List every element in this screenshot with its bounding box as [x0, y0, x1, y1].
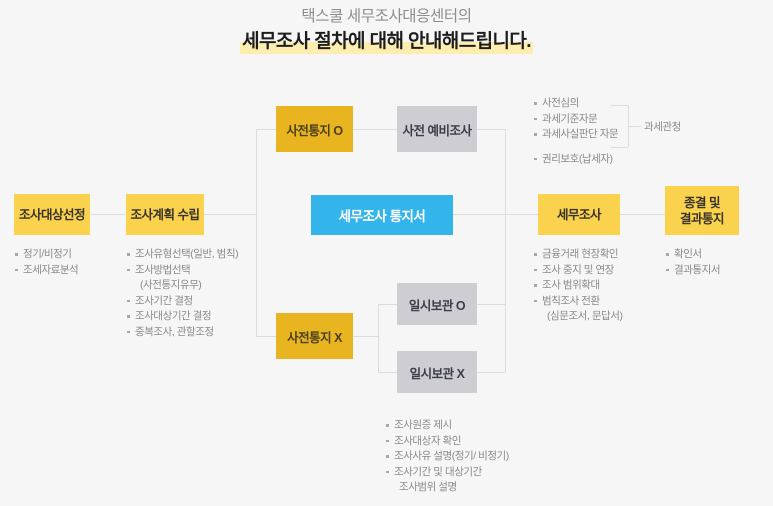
page-title: 세무조사 절차에 대해 안내해드립니다.	[240, 31, 533, 54]
list-item-continuation: (사전통지유무)	[126, 278, 238, 294]
connector-to-custody-no	[378, 372, 397, 373]
bullets-preliminary-survey-list: 사전심의 과세기준자문 과세사실판단 자문 권리보호(납세자)	[533, 96, 618, 167]
node-prior-notice-no-label: 사전통지 X	[287, 327, 342, 346]
bullets-target-selection: 정기/비정기 조세자료분석	[14, 247, 78, 278]
list-item: 조사 범위확대	[533, 278, 623, 294]
node-target-selection[interactable]: 조사대상선정	[14, 194, 90, 235]
list-item: 확인서	[665, 247, 720, 263]
node-tax-notice[interactable]: 세무조사 통지서	[311, 195, 453, 235]
list-item: 과세사실판단 자문	[533, 127, 618, 143]
node-temp-custody-yes[interactable]: 일시보관 O	[397, 283, 477, 325]
connector-investigation-to-conclusion	[620, 214, 665, 215]
list-item: 조사기간 결정	[126, 294, 238, 310]
bullets-conclusion-list: 확인서 결과통지서	[665, 247, 720, 278]
connector-custody-no-to-merge	[477, 372, 505, 373]
bracket-stem-tax-authority	[628, 126, 641, 127]
connector-selection-to-plan	[90, 214, 126, 215]
bullets-temp-custody: 조사원증 제시 조사대상자 확인 조사사유 설명(정기/ 비정기) 조사기간 및…	[385, 418, 509, 496]
list-item: 조사방법선택	[126, 263, 238, 279]
list-item: 조사기간 및 대상기간	[385, 465, 509, 481]
list-item-continuation: 조사범위 설명	[385, 480, 509, 496]
node-temp-custody-yes-label: 일시보관 O	[409, 295, 465, 314]
bullets-plan-establishment-list: 조사유형선택(일반, 범칙) 조사방법선택 (사전통지유무) 조사기간 결정 조…	[126, 247, 238, 340]
node-target-selection-label: 조사대상선정	[19, 207, 85, 223]
list-item: 조사사유 설명(정기/ 비정기)	[385, 449, 509, 465]
node-plan-establishment[interactable]: 조사계획 수립	[126, 194, 204, 235]
connector-custody-split-vertical	[378, 304, 379, 372]
page-title-block: 택스쿨 세무조사대응센터의 세무조사 절차에 대해 안내해드립니다.	[0, 6, 773, 54]
list-item: 결과통지서	[665, 263, 720, 279]
list-spacer	[533, 143, 618, 152]
node-conclusion[interactable]: 종결 및 결과통지	[665, 186, 739, 235]
connector-merge-to-investigation	[505, 214, 538, 215]
list-item: 금융거래 현장확인	[533, 247, 623, 263]
bullets-target-selection-list: 정기/비정기 조세자료분석	[14, 247, 78, 278]
bullets-preliminary-survey: 사전심의 과세기준자문 과세사실판단 자문 권리보호(납세자)	[533, 96, 618, 167]
flowchart-canvas: 택스쿨 세무조사대응센터의 세무조사 절차에 대해 안내해드립니다. 과세관청 …	[0, 0, 773, 506]
bullets-conclusion: 확인서 결과통지서	[665, 247, 720, 278]
node-prior-notice-yes-label: 사전통지 O	[286, 120, 342, 139]
node-preliminary-survey-label: 사전 예비조사	[403, 120, 472, 139]
node-prior-notice-yes[interactable]: 사전통지 O	[276, 106, 353, 152]
list-item: 조세자료분석	[14, 263, 78, 279]
node-temp-custody-no-label: 일시보관 X	[410, 363, 465, 382]
connector-to-prior-notice-yes	[256, 129, 276, 130]
connector-preliminary-to-merge	[477, 129, 505, 130]
list-item: 범칙조사 전환	[533, 294, 623, 310]
node-plan-establishment-label: 조사계획 수립	[131, 207, 200, 223]
connector-custody-yes-to-merge	[477, 304, 505, 305]
connector-notice-no-stem	[353, 336, 378, 337]
list-item-continuation: (심문조서, 문답서)	[533, 309, 623, 325]
connector-notice-split-vertical	[256, 129, 257, 336]
node-prior-notice-no[interactable]: 사전통지 X	[276, 313, 353, 359]
connector-tax-notice-to-merge	[453, 214, 505, 215]
page-subtitle: 택스쿨 세무조사대응센터의	[0, 6, 773, 28]
bullets-tax-investigation-list: 금융거래 현장확인 조사 중지 및 연장 조사 범위확대 범칙조사 전환 (심문…	[533, 247, 623, 325]
list-item: 조사대상기간 결정	[126, 309, 238, 325]
connector-to-prior-notice-no	[256, 336, 276, 337]
list-item: 조사원증 제시	[385, 418, 509, 434]
bracket-label-tax-authority: 과세관청	[644, 119, 681, 134]
node-tax-notice-label: 세무조사 통지서	[339, 205, 426, 225]
connector-merge-vertical	[505, 129, 506, 372]
list-item: 정기/비정기	[14, 247, 78, 263]
list-item: 권리보호(납세자)	[533, 152, 618, 168]
bullets-plan-establishment: 조사유형선택(일반, 범칙) 조사방법선택 (사전통지유무) 조사기간 결정 조…	[126, 247, 238, 340]
node-conclusion-label-line1: 종결 및	[684, 195, 720, 211]
list-item: 사전심의	[533, 96, 618, 112]
list-item: 조사유형선택(일반, 범칙)	[126, 247, 238, 263]
bullets-temp-custody-list: 조사원증 제시 조사대상자 확인 조사사유 설명(정기/ 비정기) 조사기간 및…	[385, 418, 509, 496]
list-item: 과세기준자문	[533, 112, 618, 128]
list-item: 중복조사, 관할조정	[126, 325, 238, 341]
node-tax-investigation-label: 세무조사	[557, 207, 601, 223]
connector-plan-stem	[204, 214, 256, 215]
list-item: 조사대상자 확인	[385, 434, 509, 450]
bullets-tax-investigation: 금융거래 현장확인 조사 중지 및 연장 조사 범위확대 범칙조사 전환 (심문…	[533, 247, 623, 325]
list-item: 조사 중지 및 연장	[533, 263, 623, 279]
connector-notice-yes-to-preliminary	[353, 129, 397, 130]
connector-to-custody-yes	[378, 304, 397, 305]
node-conclusion-label-line2: 결과통지	[680, 211, 724, 227]
node-tax-investigation[interactable]: 세무조사	[538, 194, 620, 235]
node-preliminary-survey[interactable]: 사전 예비조사	[397, 106, 477, 152]
node-temp-custody-no[interactable]: 일시보관 X	[397, 351, 477, 393]
